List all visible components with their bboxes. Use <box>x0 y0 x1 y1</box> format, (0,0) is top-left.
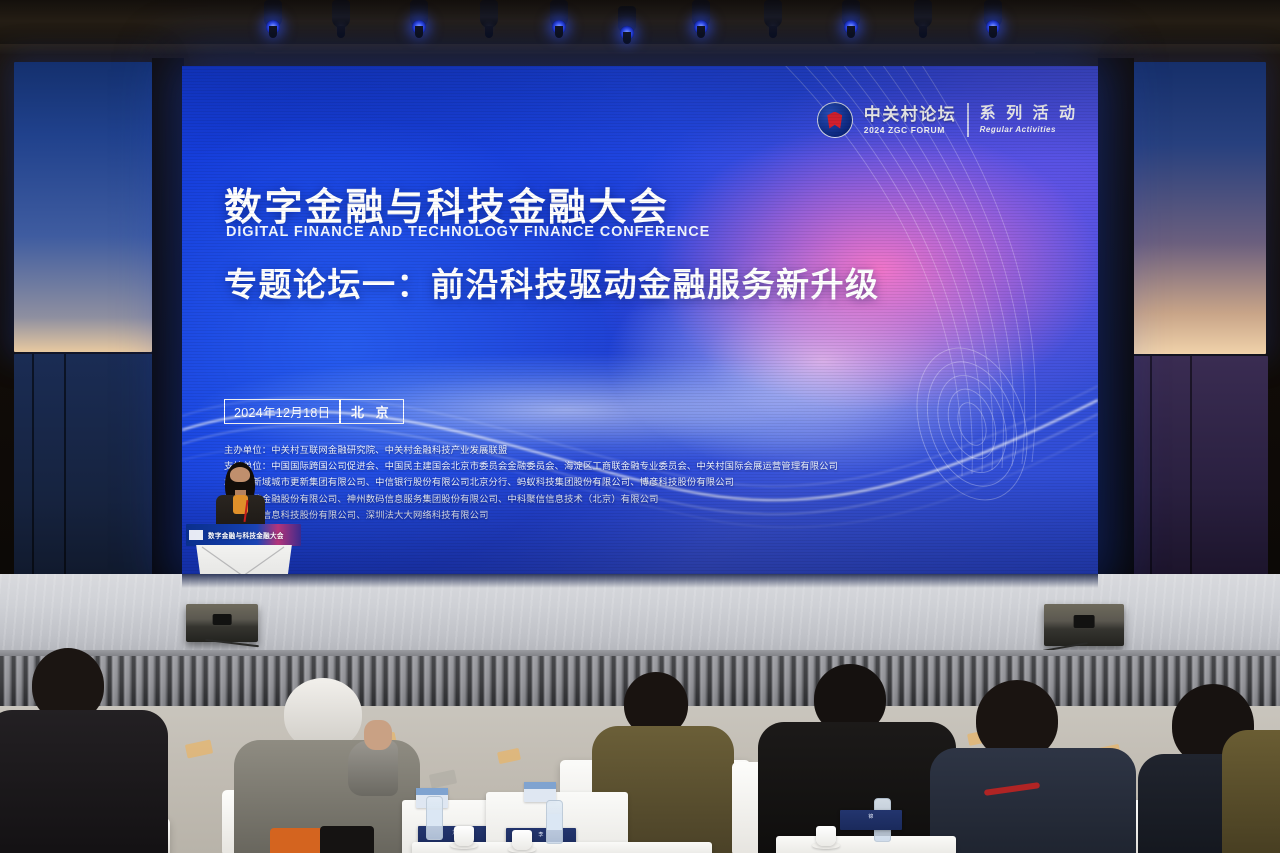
info-card <box>524 782 556 802</box>
audience-scarf <box>270 828 326 853</box>
wall-panel-right-upper <box>1132 62 1266 354</box>
tea-cup <box>816 826 836 846</box>
water-bottle <box>546 800 563 844</box>
podium-banner-text: 数字金融与科技金融大会 <box>208 530 284 540</box>
led-screen: 中关村论坛 2024 ZGC FORUM 系 列 活 动 Regular Act… <box>182 66 1098 574</box>
podium-banner: 数字金融与科技金融大会 <box>186 524 301 546</box>
stage-light-icon <box>478 0 500 38</box>
audience-body <box>0 710 168 853</box>
screen-base-shadow <box>182 574 1098 588</box>
stage-light-icon <box>330 0 352 38</box>
stage-light-icon <box>690 0 712 38</box>
name-card-text: 锦 <box>840 813 902 820</box>
stage-monitor-speaker <box>1044 604 1124 646</box>
wall-column-right <box>1098 58 1134 618</box>
audience-body <box>758 722 956 853</box>
stage-light-icon <box>262 0 284 38</box>
audience-member <box>1222 690 1280 840</box>
stage-light-icon <box>616 6 638 44</box>
stage-light-icon <box>982 0 1004 38</box>
stage-light-icon <box>408 0 430 38</box>
name-card: 锦 <box>840 810 902 830</box>
stage-light-icon <box>548 0 570 38</box>
stage-monitor-speaker <box>186 604 258 642</box>
stage-light-icon <box>840 0 862 38</box>
side-table <box>776 836 956 853</box>
led-vignette <box>182 66 1098 574</box>
water-bottle <box>426 796 443 840</box>
stage-light-icon <box>912 0 934 38</box>
tea-cup <box>454 826 474 846</box>
audience-member <box>0 648 174 853</box>
audience-coat <box>320 826 374 853</box>
audience-body <box>1222 730 1280 853</box>
audience-member <box>940 680 1130 853</box>
conference-hall-photo: 中关村论坛 2024 ZGC FORUM 系 列 活 动 Regular Act… <box>0 0 1280 853</box>
stage-light-icon <box>762 0 784 38</box>
audience-body <box>930 748 1136 853</box>
audience-hand <box>364 720 392 750</box>
wall-panel-left-upper <box>14 62 152 352</box>
tea-cup <box>512 830 532 850</box>
